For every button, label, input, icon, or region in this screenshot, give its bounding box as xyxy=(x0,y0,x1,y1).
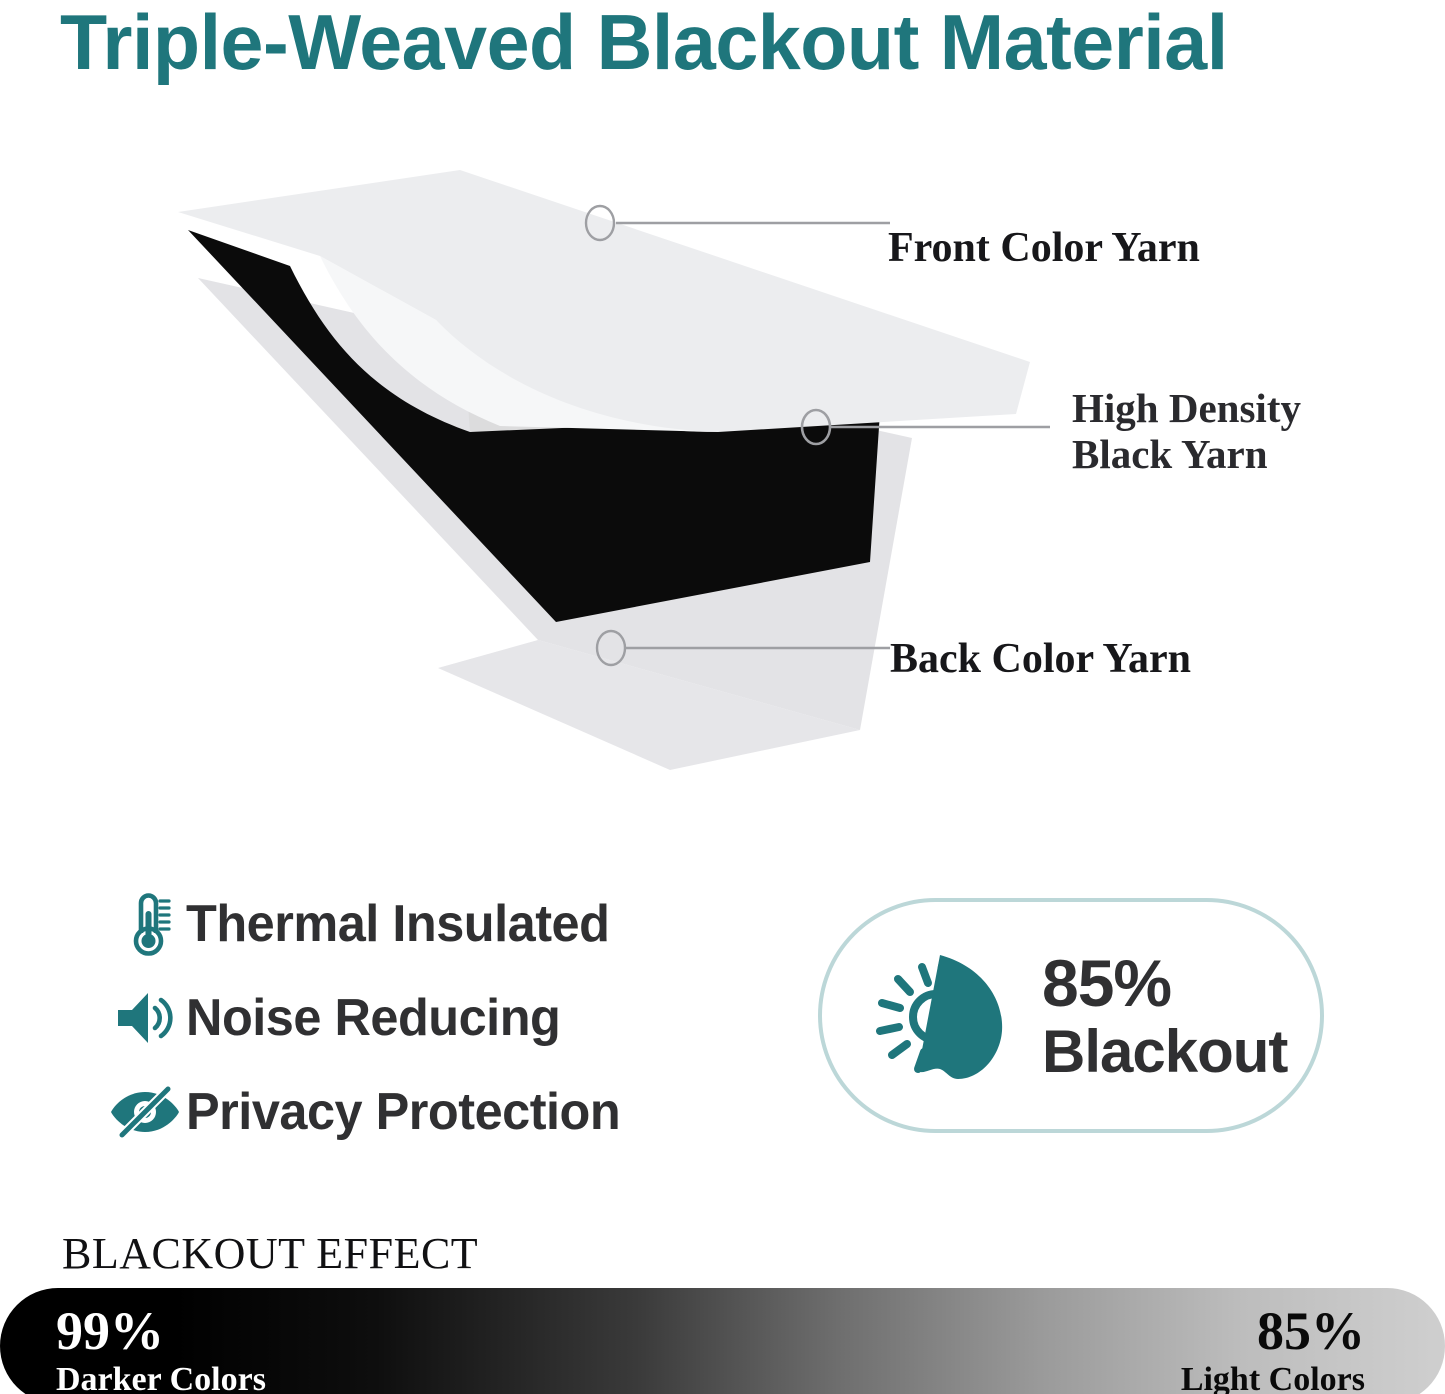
feature-label-noise-reducing: Noise Reducing xyxy=(186,988,560,1048)
blackout-effect-heading: BLACKOUT EFFECT xyxy=(62,1228,478,1280)
feature-item-privacy-protection: Privacy Protection xyxy=(104,1068,744,1156)
effect-left-percent: 99% xyxy=(56,1302,266,1360)
feature-item-noise-reducing: Noise Reducing xyxy=(104,974,744,1062)
callout-label-high-density-line1: High Density xyxy=(1072,385,1301,431)
thermometer-icon xyxy=(104,891,186,957)
feature-label-privacy-protection: Privacy Protection xyxy=(186,1082,620,1142)
callout-label-front: Front Color Yarn xyxy=(888,222,1200,274)
callout-label-high-density: High Density Black Yarn xyxy=(1072,385,1301,477)
infographic-page: Triple-Weaved Blackout Material xyxy=(0,0,1445,1394)
eye-off-icon xyxy=(104,1086,186,1138)
effect-bar-left: 99% Darker Colors xyxy=(56,1302,266,1394)
blackout-word: Blackout xyxy=(1042,1022,1287,1082)
feature-label-thermal-insulated: Thermal Insulated xyxy=(186,894,609,954)
blackout-badge: 85% Blackout xyxy=(818,898,1324,1133)
blackout-percent: 85% xyxy=(1042,950,1287,1016)
feature-list: Thermal Insulated Noise Reducing xyxy=(104,880,744,1162)
blackout-effect-bar: 99% Darker Colors 85% Light Colors xyxy=(0,1288,1445,1394)
feature-item-thermal-insulated: Thermal Insulated xyxy=(104,880,744,968)
effect-bar-right: 85% Light Colors xyxy=(1181,1302,1365,1394)
callout-label-high-density-line2: Black Yarn xyxy=(1072,431,1301,477)
blackout-badge-text: 85% Blackout xyxy=(1042,950,1287,1082)
speaker-icon xyxy=(104,989,186,1047)
callout-label-back: Back Color Yarn xyxy=(890,633,1191,685)
effect-right-percent: 85% xyxy=(1181,1302,1365,1360)
effect-right-caption: Light Colors xyxy=(1181,1360,1365,1394)
page-title: Triple-Weaved Blackout Material xyxy=(60,0,1387,90)
effect-left-caption: Darker Colors xyxy=(56,1360,266,1394)
sun-blocked-icon xyxy=(822,945,1042,1087)
